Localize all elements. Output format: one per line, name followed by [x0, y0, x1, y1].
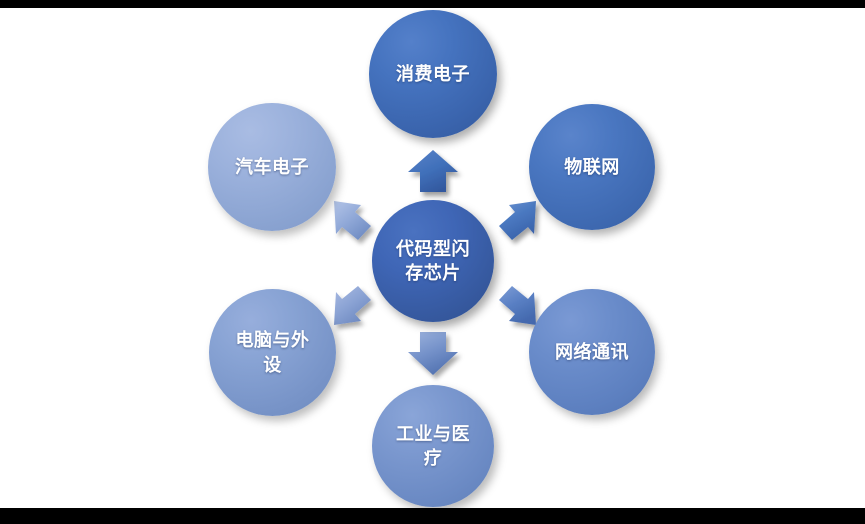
diagram-stage: 消费电子 物联网 网络通讯 工业与医疗 电脑与外设 汽车电子 代码型闪存芯片	[0, 8, 865, 508]
spoke-node-computer-peripherals[interactable]: 电脑与外设	[209, 289, 336, 416]
letterbox-band-top	[0, 0, 865, 8]
letterbox-band-bottom	[0, 508, 865, 524]
spoke-node-iot[interactable]: 物联网	[529, 104, 655, 230]
arrow-up-right-icon	[492, 196, 542, 246]
hub-label: 代码型闪存芯片	[385, 237, 481, 285]
spoke-label-industrial-medical: 工业与医疗	[385, 422, 481, 470]
spoke-label-consumer-electronics: 消费电子	[386, 62, 480, 86]
spoke-node-network-comms[interactable]: 网络通讯	[529, 289, 655, 415]
spoke-label-iot: 物联网	[554, 155, 630, 179]
spoke-node-industrial-medical[interactable]: 工业与医疗	[372, 385, 494, 507]
spoke-label-computer-peripherals: 电脑与外设	[223, 328, 322, 376]
screen-frame: 消费电子 物联网 网络通讯 工业与医疗 电脑与外设 汽车电子 代码型闪存芯片	[0, 0, 865, 524]
arrow-down-right-icon	[492, 280, 542, 330]
arrow-up-icon	[405, 148, 461, 196]
arrow-up-left-icon	[328, 196, 378, 246]
spoke-label-network-comms: 网络通讯	[545, 340, 639, 364]
spoke-label-automotive-electronics: 汽车电子	[225, 155, 319, 179]
arrow-down-icon	[405, 328, 461, 378]
arrow-down-left-icon	[328, 280, 378, 330]
spoke-node-automotive-electronics[interactable]: 汽车电子	[208, 103, 336, 231]
diagram-canvas: 消费电子 物联网 网络通讯 工业与医疗 电脑与外设 汽车电子 代码型闪存芯片	[0, 8, 865, 508]
spoke-node-consumer-electronics[interactable]: 消费电子	[369, 10, 497, 138]
hub-node-code-flash-chip[interactable]: 代码型闪存芯片	[372, 200, 494, 322]
